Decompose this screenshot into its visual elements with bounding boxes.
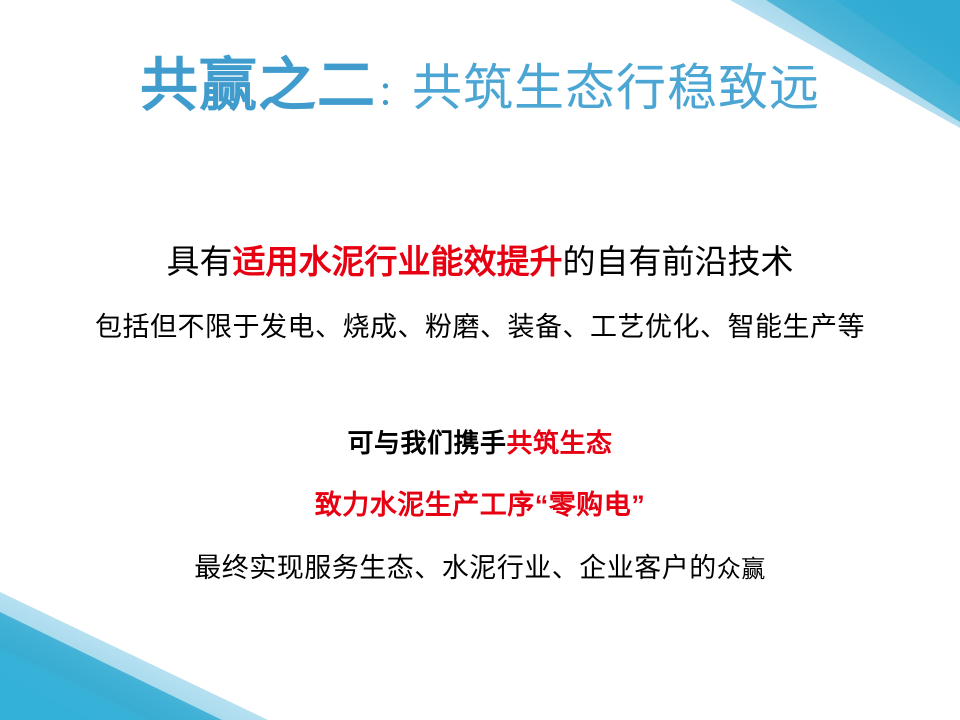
body-line-2: 包括但不限于发电、烧成、粉磨、装备、工艺优化、智能生产等	[0, 305, 960, 344]
body-line-2-text: 包括但不限于发电、烧成、粉磨、装备、工艺优化、智能生产等	[95, 312, 865, 342]
page-title-main: 共赢之二	[140, 51, 376, 119]
page-title-colon: ：	[376, 74, 412, 114]
body-line-5-prefix: 最终实现服务生态、水泥行业、企业客户的	[194, 553, 717, 583]
body-line-3: 可与我们携手共筑生态	[0, 423, 960, 460]
page-title-sub: 共筑生态行稳致远	[412, 59, 820, 117]
body-line-1-suffix: 的自有前沿技术	[563, 243, 794, 280]
body-line-1-highlight: 适用水泥行业能效提升	[233, 243, 563, 280]
body-line-3-highlight: 共筑生态	[507, 428, 613, 458]
decoration-bottom-left	[0, 592, 268, 720]
slide-canvas: 共赢之二：共筑生态行稳致远 具有适用水泥行业能效提升的自有前沿技术 包括但不限于…	[0, 0, 960, 720]
body-line-4: 致力水泥生产工序“零购电”	[0, 483, 960, 522]
page-title: 共赢之二：共筑生态行稳致远	[0, 56, 960, 115]
body-line-3-prefix: 可与我们携手	[347, 428, 506, 458]
body-line-5: 最终实现服务生态、水泥行业、企业客户的众赢	[0, 546, 960, 585]
body-line-4-text: 致力水泥生产工序“零购电”	[315, 490, 646, 520]
body-line-5-emphasis: 众赢	[717, 556, 766, 583]
body-line-1-prefix: 具有	[167, 243, 233, 280]
body-line-1: 具有适用水泥行业能效提升的自有前沿技术	[0, 235, 960, 283]
